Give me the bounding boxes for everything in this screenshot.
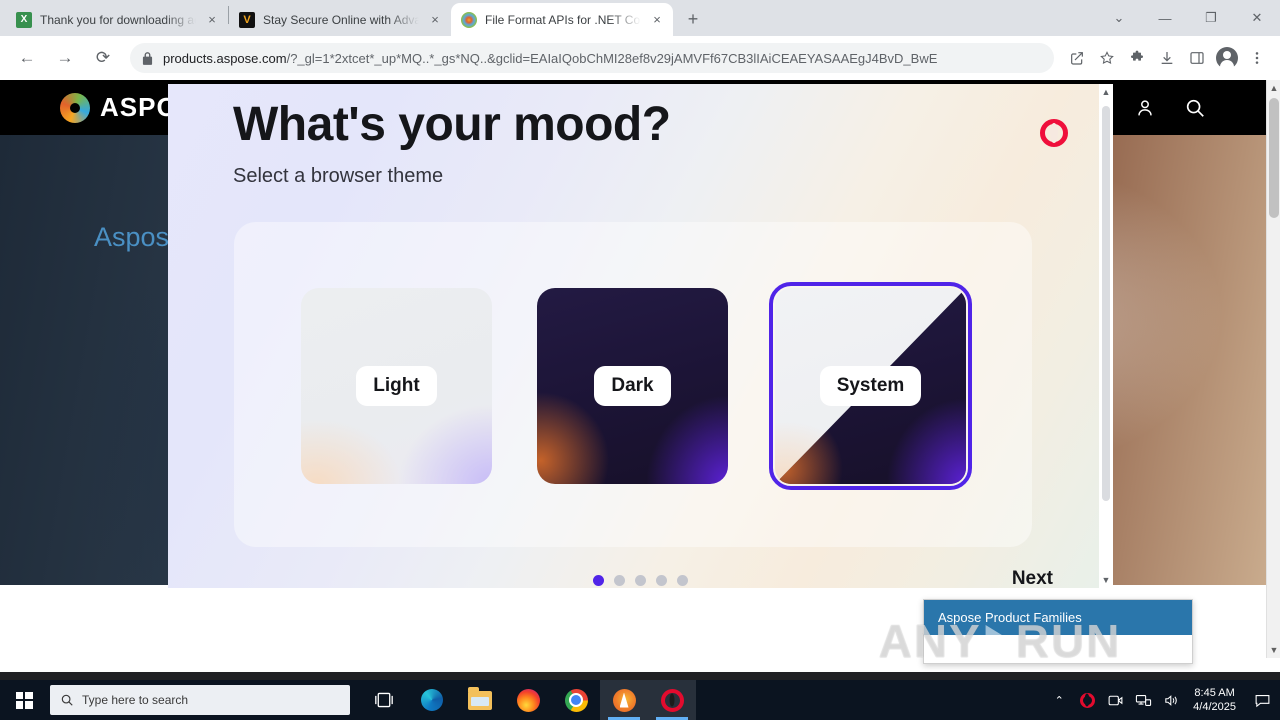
product-families-label[interactable]: Aspose Product Families [924,600,1192,635]
extensions-puzzle-icon[interactable] [1122,43,1152,73]
share-icon[interactable] [1062,43,1092,73]
theme-card-system-preview: System [775,288,966,484]
windows-taskbar: Type here to search ⌃ 8:45 AM 4/4/2025 [0,680,1280,720]
screen: ASPOSE Aspose Total Product Family Aspos… [0,0,1280,720]
pagination-dot-5[interactable] [677,575,688,586]
opera-tray-icon[interactable] [1073,680,1101,720]
file-explorer-icon[interactable] [456,680,504,720]
camera-tray-icon[interactable] [1101,680,1129,720]
address-bar[interactable]: products.aspose.com/?_gl=1*2xtcet*_up*MQ… [130,43,1054,73]
forward-button[interactable]: → [49,42,81,74]
window-controls: ⌄ — ❐ ✕ [1096,0,1280,36]
new-tab-button[interactable]: + [679,5,707,33]
search-icon [60,693,74,707]
modal-scroll-thumb[interactable] [1102,106,1110,501]
next-button[interactable]: Next [1012,568,1053,588]
task-view-icon[interactable] [360,680,408,720]
edge-icon[interactable] [408,680,456,720]
notification-icon[interactable] [1244,680,1280,720]
onboarding-pagination [168,575,1113,586]
more-menu-icon[interactable] [1242,43,1272,73]
search-icon[interactable] [1184,97,1206,119]
page-vertical-scrollbar[interactable]: ▲ ▼ [1266,80,1280,658]
theme-card-dark[interactable]: Dark [537,288,728,484]
theme-card-system[interactable]: System [769,282,972,490]
modal-vertical-scrollbar[interactable]: ▲ ▼ [1099,84,1113,588]
taskbar-search[interactable]: Type here to search [50,685,350,715]
toolbar-actions [1062,43,1272,73]
browser-tab-2-title: Stay Secure Online with Advanc [263,13,419,27]
url-text: products.aspose.com/?_gl=1*2xtcet*_up*MQ… [163,51,937,66]
browser-tab-1-title: Thank you for downloading ado [40,13,196,27]
scroll-up-icon[interactable]: ▲ [1267,80,1280,96]
network-icon[interactable] [1129,680,1157,720]
volume-icon[interactable] [1157,680,1185,720]
minimize-button[interactable]: — [1142,2,1188,34]
pagination-dot-1[interactable] [593,575,604,586]
product-families-list[interactable] [924,635,1192,663]
opera-icon[interactable] [648,680,696,720]
theme-cards: Light Dark System [234,222,1032,547]
browser-tab-3-title: File Format APIs for .NET Core, J [485,13,641,27]
pagination-dot-3[interactable] [635,575,646,586]
firefox-icon[interactable] [504,680,552,720]
site-header-actions [1134,80,1206,135]
system-tray: ⌃ 8:45 AM 4/4/2025 [1045,680,1280,720]
user-account-icon[interactable] [1134,97,1156,119]
product-families-dropdown[interactable]: Aspose Product Families [923,599,1193,664]
theme-card-light-label: Light [356,366,436,406]
profile-avatar-icon[interactable] [1212,43,1242,73]
browser-toolbar: ← → ⟳ products.aspose.com/?_gl=1*2xtcet*… [0,36,1280,80]
browser-chrome: X Thank you for downloading ado × V Stay… [0,0,1280,80]
taskbar-search-placeholder: Type here to search [82,693,188,707]
tab-close-icon[interactable]: × [427,12,443,28]
url-path: /?_gl=1*2xtcet*_up*MQ..*_gs*NQ..&gclid=E… [287,51,938,66]
page-vertical-scroll-thumb[interactable] [1269,98,1279,218]
downloads-icon[interactable] [1152,43,1182,73]
modal-scroll-up-icon[interactable]: ▲ [1099,84,1113,100]
tray-chevron-icon[interactable]: ⌃ [1045,680,1073,720]
clock-date: 4/4/2025 [1193,700,1236,714]
aspose-app-icon[interactable] [600,680,648,720]
taskbar-clock[interactable]: 8:45 AM 4/4/2025 [1185,680,1244,720]
opera-theme-modal: What's your mood? Select a browser theme… [168,84,1113,588]
tab-close-icon[interactable]: × [204,12,220,28]
maximize-button[interactable]: ❐ [1188,2,1234,34]
scroll-down-icon[interactable]: ▼ [1267,642,1280,658]
theme-card-system-label: System [820,366,922,406]
url-host: products.aspose.com [163,51,287,66]
pagination-dot-2[interactable] [614,575,625,586]
aspose-logo-icon[interactable] [60,93,90,123]
close-window-button[interactable]: ✕ [1234,2,1280,34]
reload-button[interactable]: ⟳ [87,42,119,74]
modal-subtitle: Select a browser theme [233,165,443,188]
bookmark-star-icon[interactable] [1092,43,1122,73]
clock-time: 8:45 AM [1194,686,1234,700]
search-tabs-icon[interactable]: ⌄ [1096,2,1142,34]
start-button[interactable] [0,680,48,720]
theme-card-dark-label: Dark [594,366,670,406]
pagination-dot-4[interactable] [656,575,667,586]
browser-tab-2[interactable]: V Stay Secure Online with Advanc × [229,3,451,36]
opera-logo-icon [1040,119,1068,147]
side-panel-icon[interactable] [1182,43,1212,73]
aspose-icon [461,12,477,28]
theme-card-light[interactable]: Light [301,288,492,484]
lock-icon [142,52,153,65]
tab-strip: X Thank you for downloading ado × V Stay… [0,0,1280,36]
windows-logo-icon [16,692,33,709]
chrome-icon[interactable] [552,680,600,720]
excel-icon: X [16,12,32,28]
shield-icon: V [239,12,255,28]
theme-picker-panel: Light Dark System [234,222,1032,547]
modal-title: What's your mood? [233,97,671,152]
browser-tab-1[interactable]: X Thank you for downloading ado × [6,3,228,36]
modal-scroll-down-icon[interactable]: ▼ [1099,572,1113,588]
browser-tab-3[interactable]: File Format APIs for .NET Core, J × [451,3,673,36]
back-button[interactable]: ← [11,42,43,74]
tab-close-icon[interactable]: × [649,12,665,28]
